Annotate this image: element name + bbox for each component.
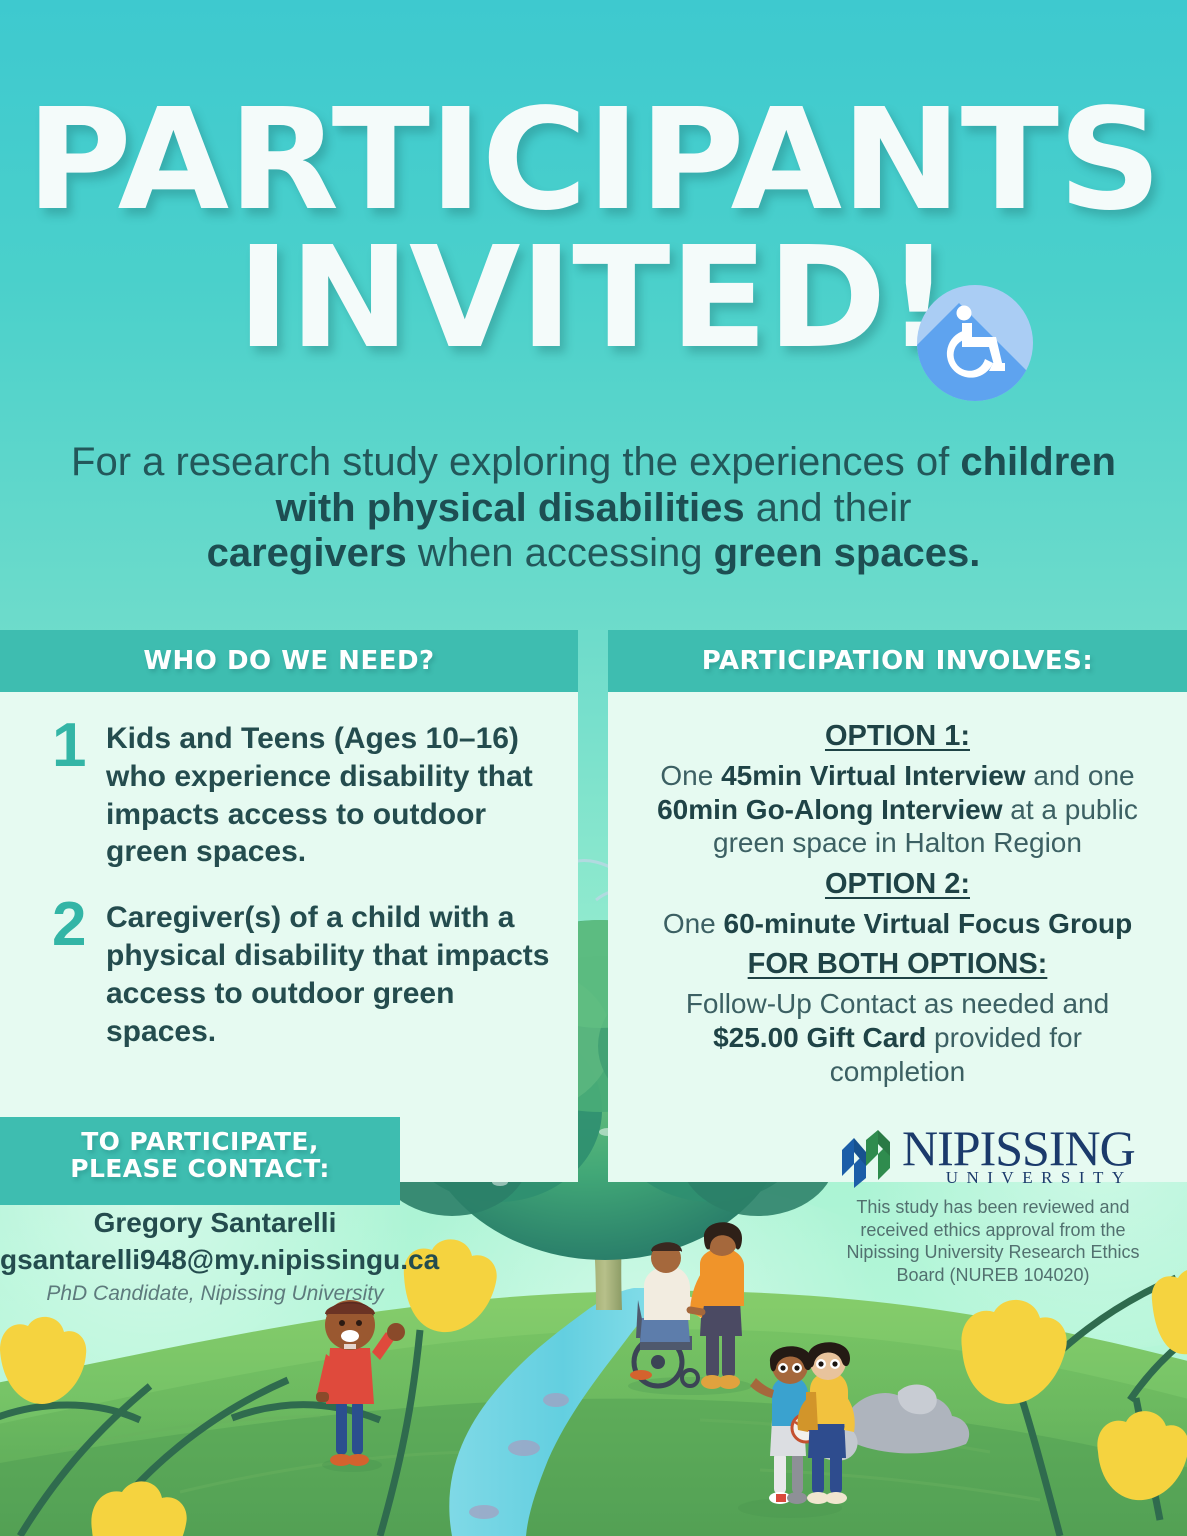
option-2-description: One 60-minute Virtual Focus Group xyxy=(642,907,1153,941)
both-text-a: Follow-Up Contact as needed and xyxy=(686,988,1109,1019)
list-item-text: Kids and Teens (Ages 10–16) who experien… xyxy=(106,720,552,871)
option-2-heading: OPTION 2: xyxy=(642,868,1153,901)
contact-name: Gregory Santarelli xyxy=(0,1205,430,1241)
subtitle: For a research study exploring the exper… xyxy=(50,440,1137,577)
option-1-text-b: 45min Virtual Interview xyxy=(721,760,1026,791)
option-1-description: One 45min Virtual Interview and one 60mi… xyxy=(642,759,1153,860)
list-item-number: 1 xyxy=(52,720,106,773)
contact-email[interactable]: gsantarelli948@my.nipissingu.ca xyxy=(0,1241,430,1279)
poster-root: PARTICIPANTS INVITED! For a research stu… xyxy=(0,0,1187,1536)
both-options-heading: FOR BOTH OPTIONS: xyxy=(642,948,1153,981)
subtitle-bold-3: green spaces. xyxy=(714,531,981,575)
subtitle-bold-2: caregivers xyxy=(207,531,407,575)
list-item: 1 Kids and Teens (Ages 10–16) who experi… xyxy=(52,720,552,871)
two-children-with-ball xyxy=(738,1342,855,1518)
nipissing-wordmark: NIPISSING xyxy=(902,1125,1135,1171)
subtitle-part-1: For a research study exploring the exper… xyxy=(71,440,960,484)
subtitle-part-2: and their xyxy=(745,486,912,530)
headline-line-1: PARTICIPANTS xyxy=(0,96,1187,226)
child-waving xyxy=(316,1300,405,1472)
panel-involves-body: OPTION 1: One 45min Virtual Interview an… xyxy=(608,692,1187,1182)
list-item-text: Caregiver(s) of a child with a physical … xyxy=(106,899,552,1050)
contact-header-bar: TO PARTICIPATE, PLEASE CONTACT: xyxy=(0,1117,400,1205)
contact-details: Gregory Santarelli gsantarelli948@my.nip… xyxy=(0,1205,430,1309)
caregiver-and-wheelchair-user xyxy=(628,1222,752,1395)
both-text-b: $25.00 Gift Card xyxy=(713,1022,926,1053)
panel-participation-involves: PARTICIPATION INVOLVES: OPTION 1: One 45… xyxy=(608,630,1187,1182)
rocks xyxy=(808,1385,969,1461)
list-item: 2 Caregiver(s) of a child with a physica… xyxy=(52,899,552,1050)
contact-role: PhD Candidate, Nipissing University xyxy=(0,1279,430,1308)
yellow-tulips-right xyxy=(961,1269,1187,1536)
panel-who-do-we-need: WHO DO WE NEED? 1 Kids and Teens (Ages 1… xyxy=(0,630,578,1182)
contact-header-text: TO PARTICIPATE, PLEASE CONTACT: xyxy=(0,1117,400,1182)
contact-header-line-2: PLEASE CONTACT: xyxy=(0,1156,400,1183)
option-1-text-d: 60min Go-Along Interview xyxy=(657,794,1002,825)
panel-who-body: 1 Kids and Teens (Ages 10–16) who experi… xyxy=(0,692,578,1182)
option-1-text-a: One xyxy=(660,760,721,791)
contact-header-line-1: TO PARTICIPATE, xyxy=(0,1129,400,1156)
panel-involves-header: PARTICIPATION INVOLVES: xyxy=(608,630,1187,692)
ethics-approval-text: This study has been reviewed and receive… xyxy=(838,1196,1148,1287)
subtitle-part-3: when accessing xyxy=(407,531,714,575)
wheelchair-accessibility-icon xyxy=(917,285,1033,401)
panel-who-header: WHO DO WE NEED? xyxy=(0,630,578,692)
option-2-text-b: 60-minute Virtual Focus Group xyxy=(724,908,1133,939)
nipissing-n-logo-icon xyxy=(838,1130,896,1188)
option-2-text-a: One xyxy=(663,908,724,939)
nipissing-university-branding: NIPISSING UNIVERSITY This study has been… xyxy=(838,1125,1148,1287)
list-item-number: 2 xyxy=(52,899,106,952)
option-1-heading: OPTION 1: xyxy=(642,720,1153,753)
both-options-description: Follow-Up Contact as needed and $25.00 G… xyxy=(642,987,1153,1088)
option-1-text-c: and one xyxy=(1026,760,1135,791)
